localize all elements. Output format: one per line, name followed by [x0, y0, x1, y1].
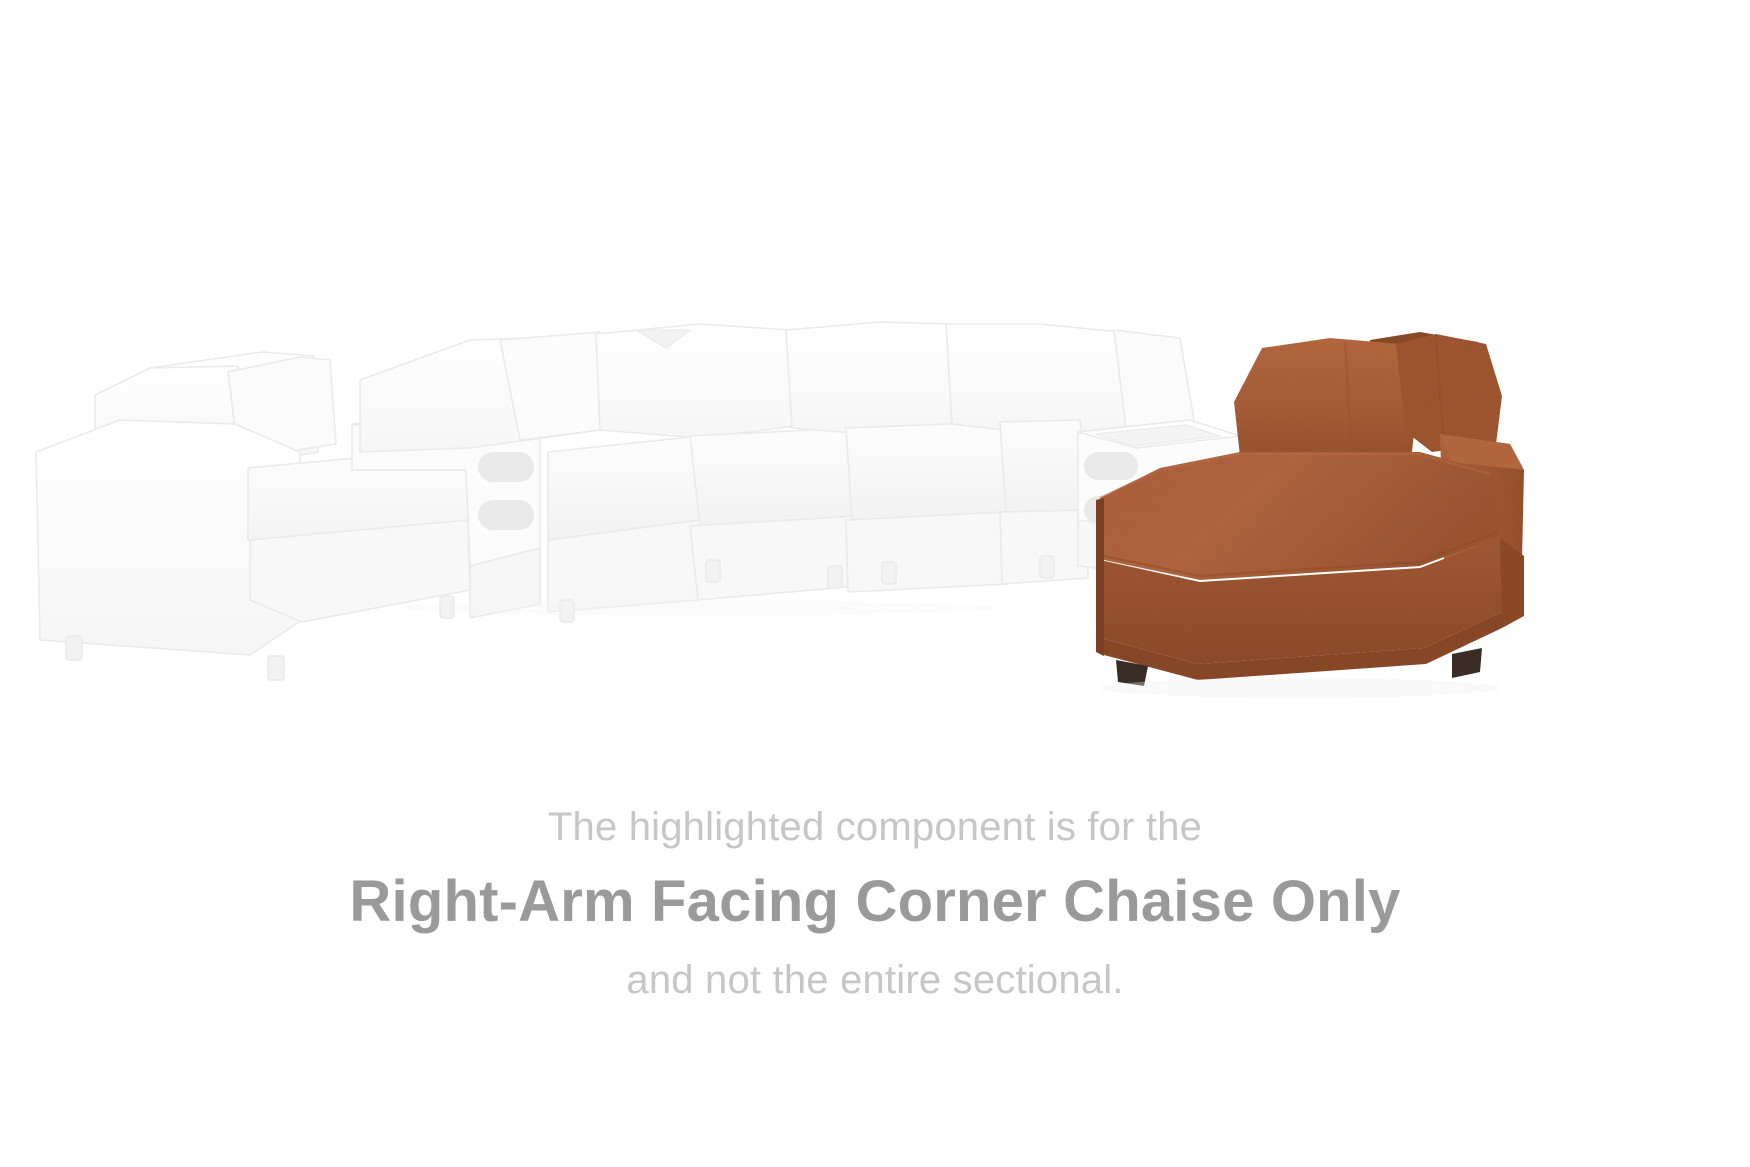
caption-line-disclaimer: and not the entire sectional.	[0, 949, 1750, 1007]
caption-line-component-name: Right-Arm Facing Corner Chaise Only	[0, 860, 1750, 949]
chaise-back-cushion-main	[1234, 338, 1418, 468]
caption-block: The highlighted component is for the Rig…	[0, 800, 1750, 1007]
product-figure	[0, 0, 1750, 790]
caption-line-intro: The highlighted component is for the	[0, 800, 1750, 860]
chaise-back-cushion-side	[1396, 334, 1502, 452]
ghosted-sectional-group	[36, 322, 1240, 680]
chaise-left-cut-edge	[1096, 498, 1104, 656]
sectional-illustration-svg	[0, 0, 1750, 790]
module-right-end-back-panel	[1114, 330, 1196, 432]
chaise-foot-right	[1452, 648, 1482, 678]
product-highlight-page: The highlighted component is for the Rig…	[0, 0, 1750, 1167]
